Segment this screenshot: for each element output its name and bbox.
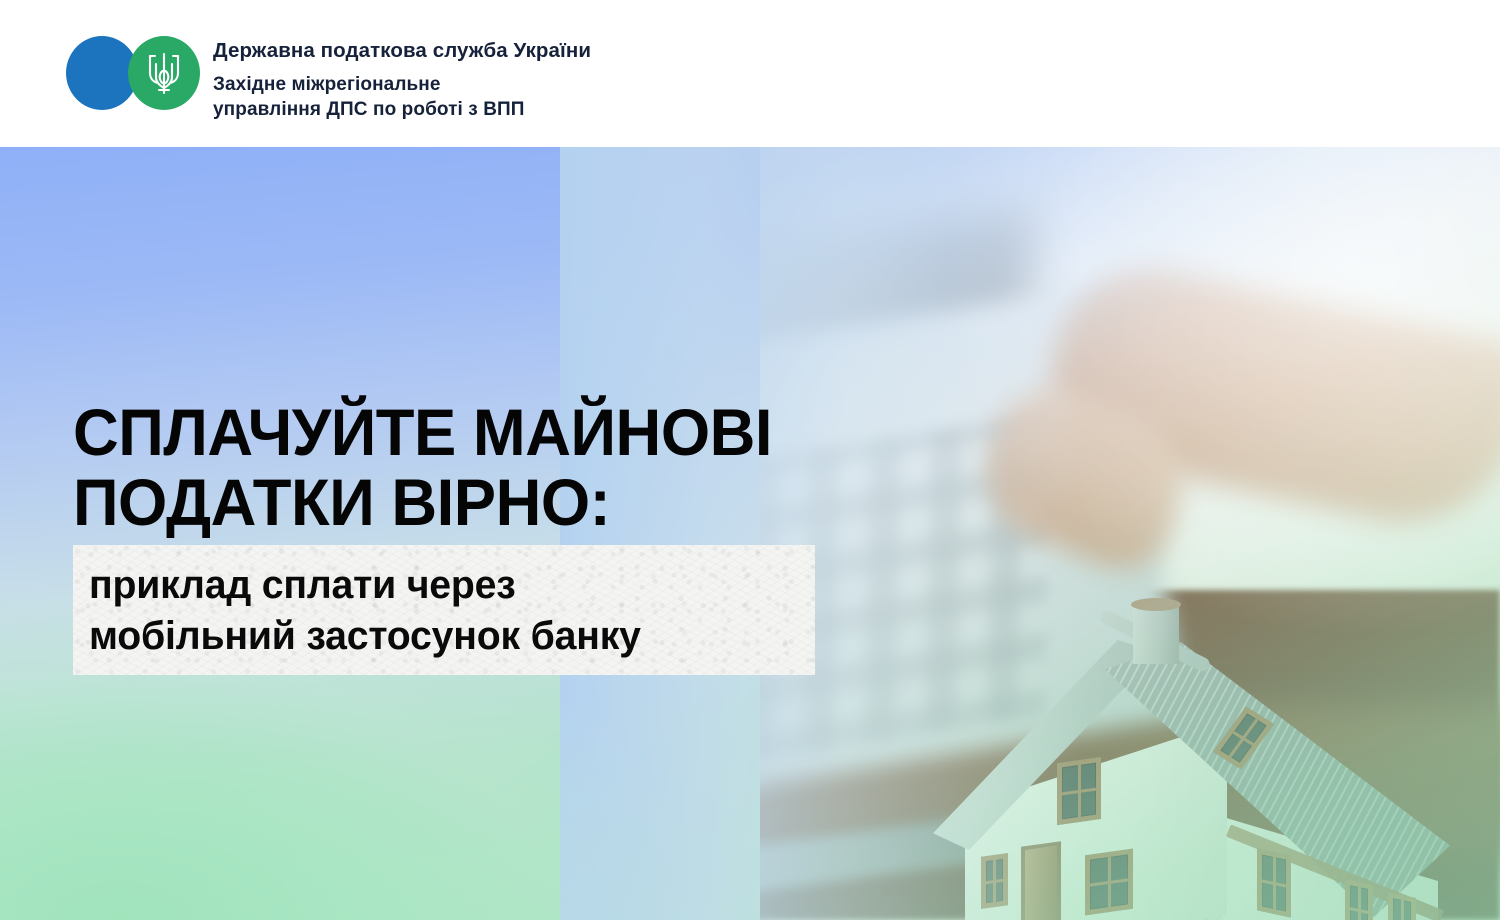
org-title-primary: Державна податкова служба України <box>213 38 591 64</box>
site-header: Державна податкова служба України Західн… <box>0 0 1500 147</box>
hero-headline-line-2: ПОДАТКИ ВІРНО: <box>73 467 860 537</box>
hero-headline: СПЛАЧУЙТЕ МАЙНОВІ ПОДАТКИ ВІРНО: <box>73 397 860 537</box>
hero-banner: СПЛАЧУЙТЕ МАЙНОВІ ПОДАТКИ ВІРНО: приклад… <box>0 147 1500 920</box>
hero-headline-line-1: СПЛАЧУЙТЕ МАЙНОВІ <box>73 397 860 467</box>
hero-subhead-line-1: приклад сплати через <box>89 560 814 611</box>
ukrainian-trident-icon <box>144 50 184 96</box>
org-title-secondary-line2: управління ДПС по роботі з ВПП <box>213 97 591 122</box>
org-title-secondary-line1: Західне міжрегіональне <box>213 72 591 97</box>
dps-logo[interactable] <box>66 36 206 110</box>
hero-subhead: приклад сплати через мобільний застосуно… <box>89 560 814 662</box>
banner-page: Державна податкова служба України Західн… <box>0 0 1500 920</box>
org-title-secondary: Західне міжрегіональне управління ДПС по… <box>213 72 591 122</box>
organization-title: Державна податкова служба України Західн… <box>213 38 591 122</box>
hero-copy: СПЛАЧУЙТЕ МАЙНОВІ ПОДАТКИ ВІРНО: приклад… <box>0 147 1500 920</box>
hero-subhead-line-2: мобільний застосунок банку <box>89 611 814 662</box>
